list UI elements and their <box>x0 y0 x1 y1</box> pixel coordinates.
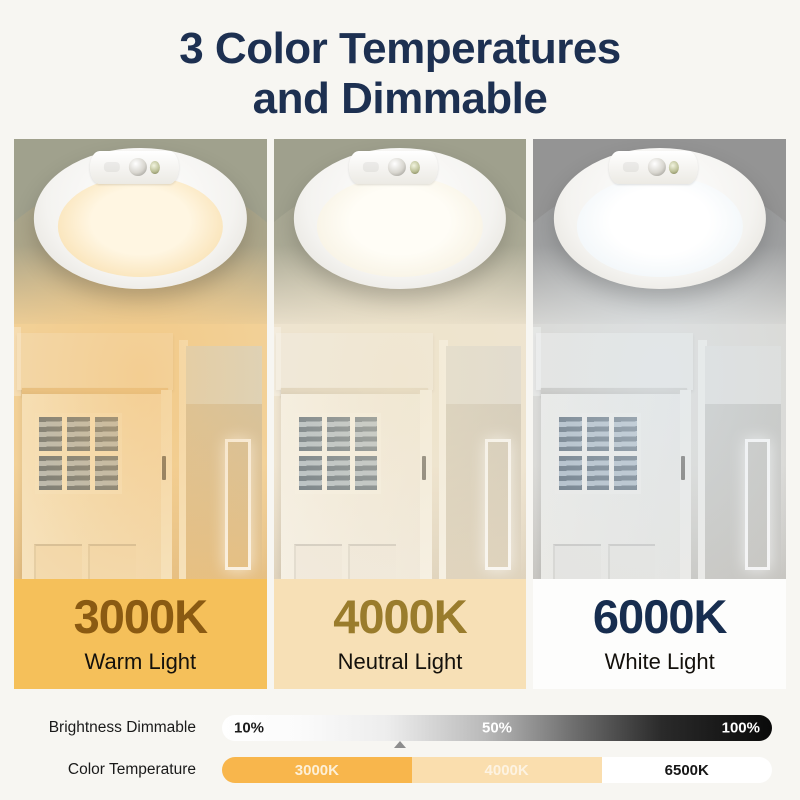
motion-sensor-module <box>609 151 698 185</box>
door-handle <box>422 456 426 480</box>
fixture-lens <box>577 176 743 277</box>
caption-band-3000k: 3000K Warm Light <box>14 579 267 689</box>
color-temperature-label: Color Temperature <box>0 761 196 779</box>
brightness-row: Brightness Dimmable 10% 50% 100% <box>0 713 800 743</box>
color-temperature-row: Color Temperature 3000K 4000K 6500K <box>0 755 800 785</box>
window-pane <box>67 456 90 490</box>
temp-segment-6500k[interactable]: 6500K <box>602 757 773 783</box>
page-title: 3 Color Temperatures and Dimmable <box>0 24 800 124</box>
page-title-line1: 3 Color Temperatures <box>179 24 621 73</box>
far-window <box>485 439 511 570</box>
brightness-label: Brightness Dimmable <box>0 719 196 737</box>
window-pane <box>299 456 322 490</box>
pir-dome-icon <box>648 158 666 176</box>
window-pane <box>559 417 582 451</box>
entry-door <box>281 394 420 579</box>
window-pane <box>39 417 62 451</box>
caption-band-4000k: 4000K Neutral Light <box>274 579 527 689</box>
door-handle <box>681 456 685 480</box>
brightness-marker-icon <box>394 741 406 748</box>
inner-ceiling <box>446 346 522 407</box>
window-pane <box>614 456 637 490</box>
entry-door <box>22 394 161 579</box>
kelvin-value: 6000K <box>593 593 727 640</box>
brightness-min-value: 10% <box>234 720 264 737</box>
caption-band-6000k: 6000K White Light <box>533 579 786 689</box>
transom-board <box>17 333 174 390</box>
sensor-vent <box>104 162 120 172</box>
panel-4000k[interactable]: 4000K Neutral Light <box>274 139 527 689</box>
panel-3000k[interactable]: 3000K Warm Light <box>14 139 267 689</box>
door-lower-panel <box>88 544 136 579</box>
far-window <box>225 439 251 570</box>
window-pane <box>587 417 610 451</box>
window-pane <box>355 417 378 451</box>
window-pane <box>299 417 322 451</box>
temp-segment-4000k[interactable]: 4000K <box>412 757 602 783</box>
transom-board <box>276 333 433 390</box>
brightness-max-value: 100% <box>722 720 760 737</box>
window-pane <box>587 456 610 490</box>
kelvin-description: White Light <box>605 649 715 675</box>
entry-door <box>541 394 680 579</box>
panel-6000k[interactable]: 6000K White Light <box>533 139 786 689</box>
door-window-panes <box>555 413 641 494</box>
door-window-panes <box>295 413 381 494</box>
room-scene-4000k <box>274 139 527 579</box>
door-window-panes <box>35 413 121 494</box>
indicator-led-icon <box>150 161 160 174</box>
brightness-mid-value: 50% <box>482 720 512 737</box>
sensor-vent <box>363 162 379 172</box>
temp-segment-3000k[interactable]: 3000K <box>222 757 412 783</box>
ceiling-light-icon <box>554 148 766 289</box>
pir-dome-icon <box>388 158 406 176</box>
door-jamb <box>161 390 172 579</box>
window-pane <box>355 456 378 490</box>
kelvin-description: Warm Light <box>85 649 197 675</box>
doorway-opening <box>446 346 522 579</box>
motion-sensor-module <box>349 151 438 185</box>
temp-segment-label: 3000K <box>295 762 339 779</box>
motion-sensor-module <box>89 151 178 185</box>
kelvin-value: 3000K <box>74 593 208 640</box>
inner-ceiling <box>705 346 781 407</box>
color-temperature-slider[interactable]: 3000K 4000K 6500K <box>222 757 772 783</box>
door-lower-panel <box>553 544 601 579</box>
window-pane <box>559 456 582 490</box>
kelvin-value: 4000K <box>333 593 467 640</box>
color-temperature-panels: 3000K Warm Light <box>14 139 786 689</box>
door-lower-panel <box>34 544 82 579</box>
far-window <box>745 439 771 570</box>
door-lower-panel <box>608 544 656 579</box>
window-pane <box>95 417 118 451</box>
door-handle <box>162 456 166 480</box>
fixture-lens <box>317 176 483 277</box>
window-pane <box>614 417 637 451</box>
temp-segment-label: 6500K <box>665 762 709 779</box>
pir-dome-icon <box>129 158 147 176</box>
window-pane <box>67 417 90 451</box>
transom-board <box>536 333 693 390</box>
ceiling-light-icon <box>34 148 246 289</box>
temp-segment-label: 4000K <box>485 762 529 779</box>
room-scene-3000k <box>14 139 267 579</box>
ceiling-light-icon <box>294 148 506 289</box>
sensor-vent <box>623 162 639 172</box>
window-pane <box>327 456 350 490</box>
door-jamb <box>680 390 691 579</box>
door-lower-panel <box>294 544 342 579</box>
page-title-line2: and Dimmable <box>0 74 800 124</box>
door-lower-panel <box>348 544 396 579</box>
window-pane <box>39 456 62 490</box>
window-pane <box>95 456 118 490</box>
room-scene-6000k <box>533 139 786 579</box>
door-jamb <box>420 390 431 579</box>
kelvin-description: Neutral Light <box>338 649 463 675</box>
fixture-lens <box>58 176 224 277</box>
doorway-opening <box>186 346 262 579</box>
brightness-slider[interactable]: 10% 50% 100% <box>222 715 772 741</box>
doorway-opening <box>705 346 781 579</box>
indicator-led-icon <box>410 161 420 174</box>
window-pane <box>327 417 350 451</box>
inner-ceiling <box>186 346 262 407</box>
indicator-led-icon <box>669 161 679 174</box>
